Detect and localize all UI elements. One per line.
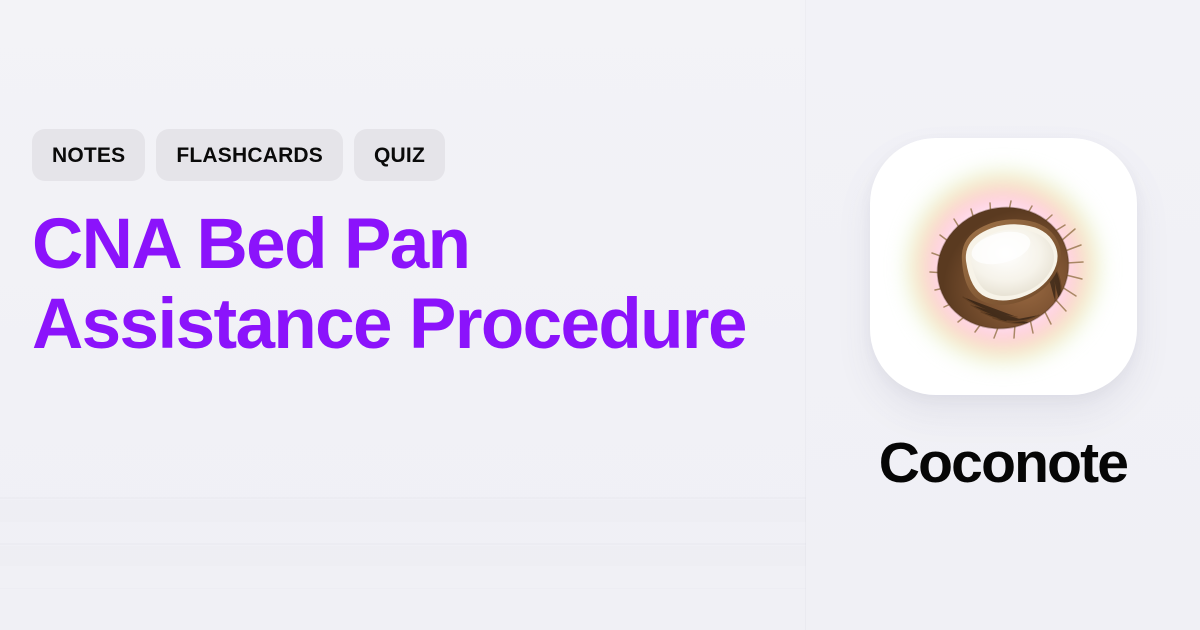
tag-pill-flashcards[interactable]: FLASHCARDS (156, 129, 343, 181)
tag-pill-quiz[interactable]: QUIZ (354, 129, 445, 181)
skeleton-content-line (0, 588, 806, 589)
skeleton-content-line (0, 546, 806, 566)
app-icon-card (870, 138, 1137, 395)
page-title: CNA Bed Pan Assistance Procedure (32, 205, 772, 364)
content-type-tag-row: NOTES FLASHCARDS QUIZ (32, 129, 445, 181)
tag-pill-notes[interactable]: NOTES (32, 129, 145, 181)
coconut-icon (915, 179, 1091, 355)
skeleton-content-line (0, 497, 806, 499)
brand-block: Coconote (806, 0, 1200, 630)
og-share-card: NOTES FLASHCARDS QUIZ CNA Bed Pan Assist… (0, 0, 1200, 630)
skeleton-content-line (0, 500, 806, 522)
brand-wordmark: Coconote (879, 435, 1127, 492)
skeleton-content-line (0, 543, 806, 545)
